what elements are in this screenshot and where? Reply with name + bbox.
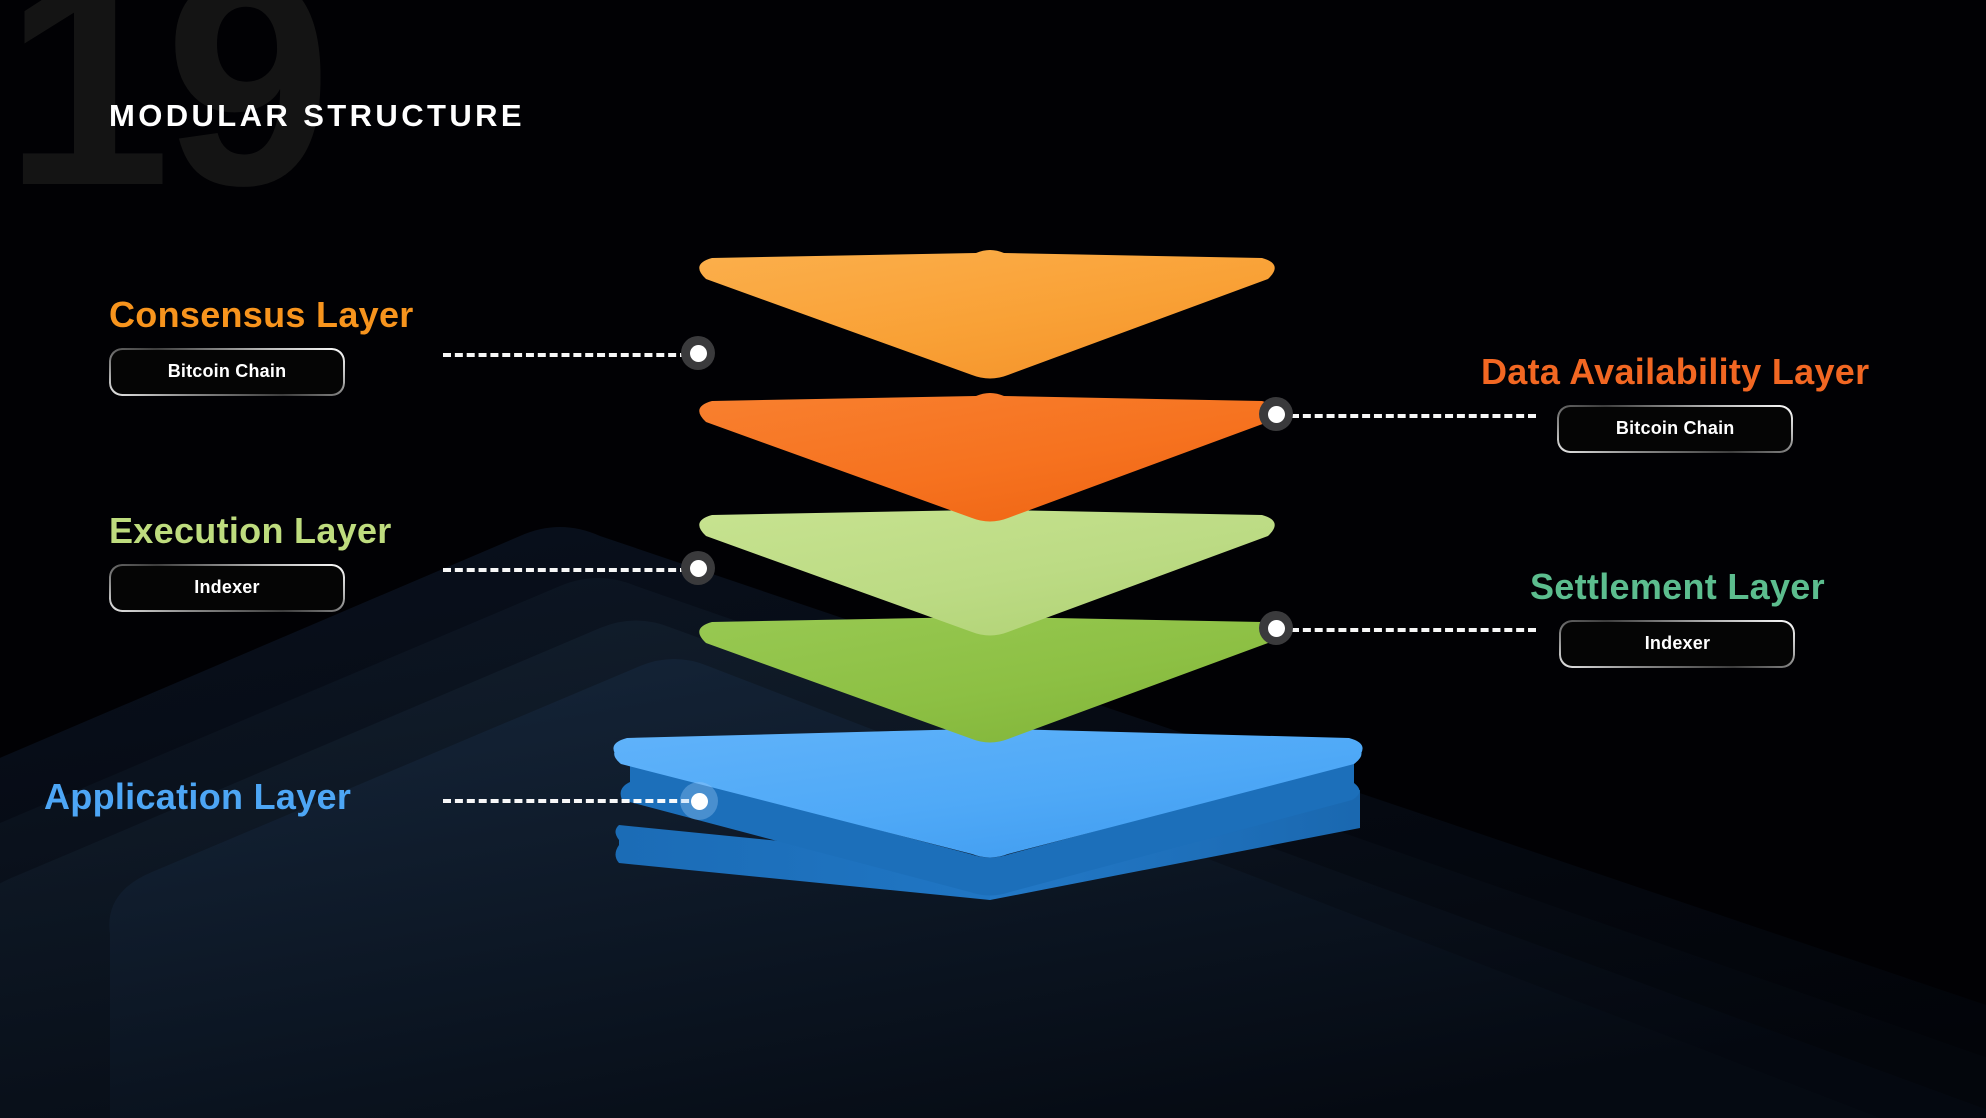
node-dot-data-availability[interactable]	[1259, 397, 1293, 431]
node-dot-settlement[interactable]	[1259, 611, 1293, 645]
label-data-availability-layer: Data Availability Layer Bitcoin Chain	[1481, 352, 1869, 453]
plate-execution	[699, 507, 1274, 636]
label-execution-layer: Execution Layer Indexer	[109, 511, 392, 612]
badge-consensus-value[interactable]: Bitcoin Chain	[109, 348, 345, 396]
label-application-title: Application Layer	[44, 777, 351, 817]
badge-data-availability-value[interactable]: Bitcoin Chain	[1557, 405, 1793, 453]
label-consensus-title: Consensus Layer	[109, 295, 414, 335]
node-dot-application[interactable]	[680, 782, 718, 820]
plate-application	[613, 726, 1362, 901]
label-settlement-title: Settlement Layer	[1530, 567, 1825, 607]
plate-consensus	[699, 250, 1274, 379]
badge-settlement-value[interactable]: Indexer	[1559, 620, 1795, 668]
page-title: MODULAR STRUCTURE	[109, 98, 525, 134]
label-application-layer: Application Layer	[44, 777, 351, 817]
slide-canvas: 19 MODULAR STRUCTURE	[0, 0, 1986, 1118]
label-execution-title: Execution Layer	[109, 511, 392, 551]
plate-data-availability	[699, 393, 1274, 522]
badge-execution-value[interactable]: Indexer	[109, 564, 345, 612]
connector-application	[443, 799, 701, 803]
label-settlement-layer: Settlement Layer Indexer	[1530, 567, 1825, 668]
label-consensus-layer: Consensus Layer Bitcoin Chain	[109, 295, 414, 396]
connector-execution	[443, 568, 688, 572]
connector-consensus	[443, 353, 688, 357]
node-dot-consensus[interactable]	[681, 336, 715, 370]
label-data-availability-title: Data Availability Layer	[1481, 352, 1869, 392]
node-dot-execution[interactable]	[681, 551, 715, 585]
connector-settlement	[1291, 628, 1536, 632]
plate-settlement	[699, 614, 1274, 743]
